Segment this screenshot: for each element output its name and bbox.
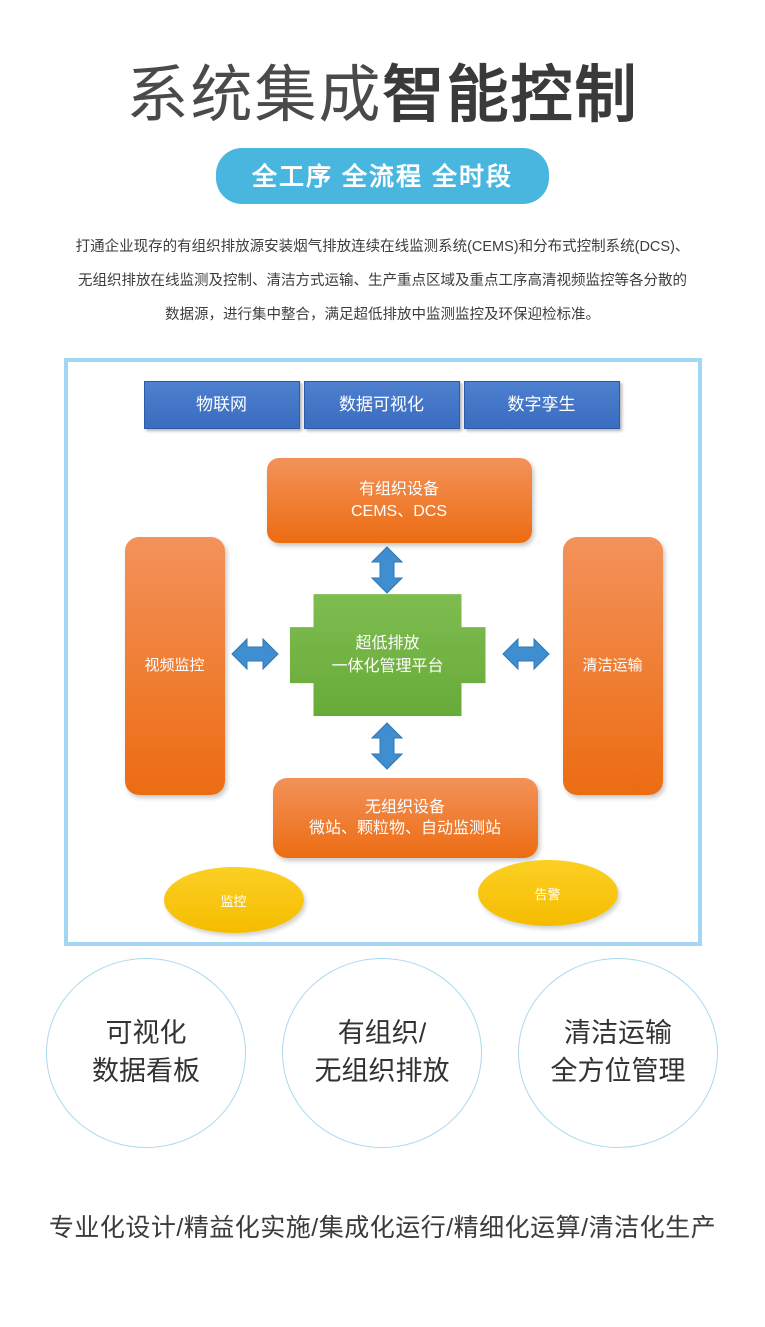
node-monitoring[interactable]: 监控: [164, 867, 304, 933]
node-alarm[interactable]: 告警: [478, 860, 618, 926]
feature-1-line-2: 数据看板: [92, 1053, 200, 1091]
slogan-badge: 全工序 全流程 全时段: [216, 148, 549, 204]
intro-line-3: 数据源，进行集中整合，满足超低排放中监测监控及环保迎检标准。: [73, 298, 693, 332]
feature-3-line-1: 清洁运输: [564, 1015, 672, 1053]
central-platform-title: 超低排放: [355, 632, 419, 655]
node-central-platform[interactable]: 超低排放 一体化管理平台: [290, 594, 486, 716]
architecture-diagram: 物联网 数据可视化 数字孪生 有组织设备 CEMS、DCS 无组织设备 微站、颗…: [64, 358, 702, 946]
feature-circle-clean-transport[interactable]: 清洁运输 全方位管理: [518, 958, 718, 1148]
intro-line-2: 无组织排放在线监测及控制、清洁方式运输、生产重点区域及重点工序高清视频监控等各分…: [73, 264, 693, 298]
feature-2-line-1: 有组织/: [338, 1015, 427, 1053]
feature-circle-visualization[interactable]: 可视化 数据看板: [46, 958, 246, 1148]
feature-3-line-2: 全方位管理: [551, 1053, 686, 1091]
central-platform-subtitle: 一体化管理平台: [331, 655, 443, 678]
node-video-surveillance[interactable]: 视频监控: [125, 537, 225, 795]
double-arrow-vertical-icon-2: [370, 722, 404, 770]
node-unorganized-subtitle: 微站、颗粒物、自动监测站: [309, 818, 501, 840]
feature-1-line-1: 可视化: [106, 1015, 187, 1053]
badge-row: 全工序 全流程 全时段: [0, 148, 765, 204]
intro-line-1: 打通企业现存的有组织排放源安装烟气排放连续在线监测系统(CEMS)和分布式控制系…: [73, 230, 693, 264]
page-title-bold: 智能控制: [383, 61, 639, 130]
tag-box-data-visualization[interactable]: 数据可视化: [304, 381, 460, 429]
node-clean-transport[interactable]: 清洁运输: [563, 537, 663, 795]
node-organized-title: 有组织设备: [351, 479, 447, 501]
tag-box-iot[interactable]: 物联网: [144, 381, 300, 429]
double-arrow-vertical-icon: [370, 546, 404, 594]
node-organized-subtitle: CEMS、DCS: [351, 501, 447, 523]
page-title-light: 系统集成: [126, 58, 382, 131]
page-title: 系统集成智能控制: [0, 62, 765, 128]
tag-box-digital-twin[interactable]: 数字孪生: [464, 381, 620, 429]
feature-2-line-2: 无组织排放: [315, 1053, 450, 1091]
node-unorganized-equipment[interactable]: 无组织设备 微站、颗粒物、自动监测站: [273, 778, 538, 858]
feature-circles: 可视化 数据看板 有组织/ 无组织排放 清洁运输 全方位管理: [0, 958, 765, 1170]
double-arrow-horizontal-icon: [231, 637, 279, 671]
intro-paragraph: 打通企业现存的有组织排放源安装烟气排放连续在线监测系统(CEMS)和分布式控制系…: [73, 230, 693, 332]
footer-tagline: 专业化设计/精益化实施/集成化运行/精细化运算/清洁化生产: [0, 1208, 765, 1244]
double-arrow-horizontal-icon-2: [502, 637, 550, 671]
hero-section: 系统集成智能控制 全工序 全流程 全时段 打通企业现存的有组织排放源安装烟气排放…: [0, 0, 765, 332]
node-unorganized-title: 无组织设备: [309, 797, 501, 819]
node-organized-equipment[interactable]: 有组织设备 CEMS、DCS: [267, 458, 532, 543]
feature-circle-emissions[interactable]: 有组织/ 无组织排放: [282, 958, 482, 1148]
